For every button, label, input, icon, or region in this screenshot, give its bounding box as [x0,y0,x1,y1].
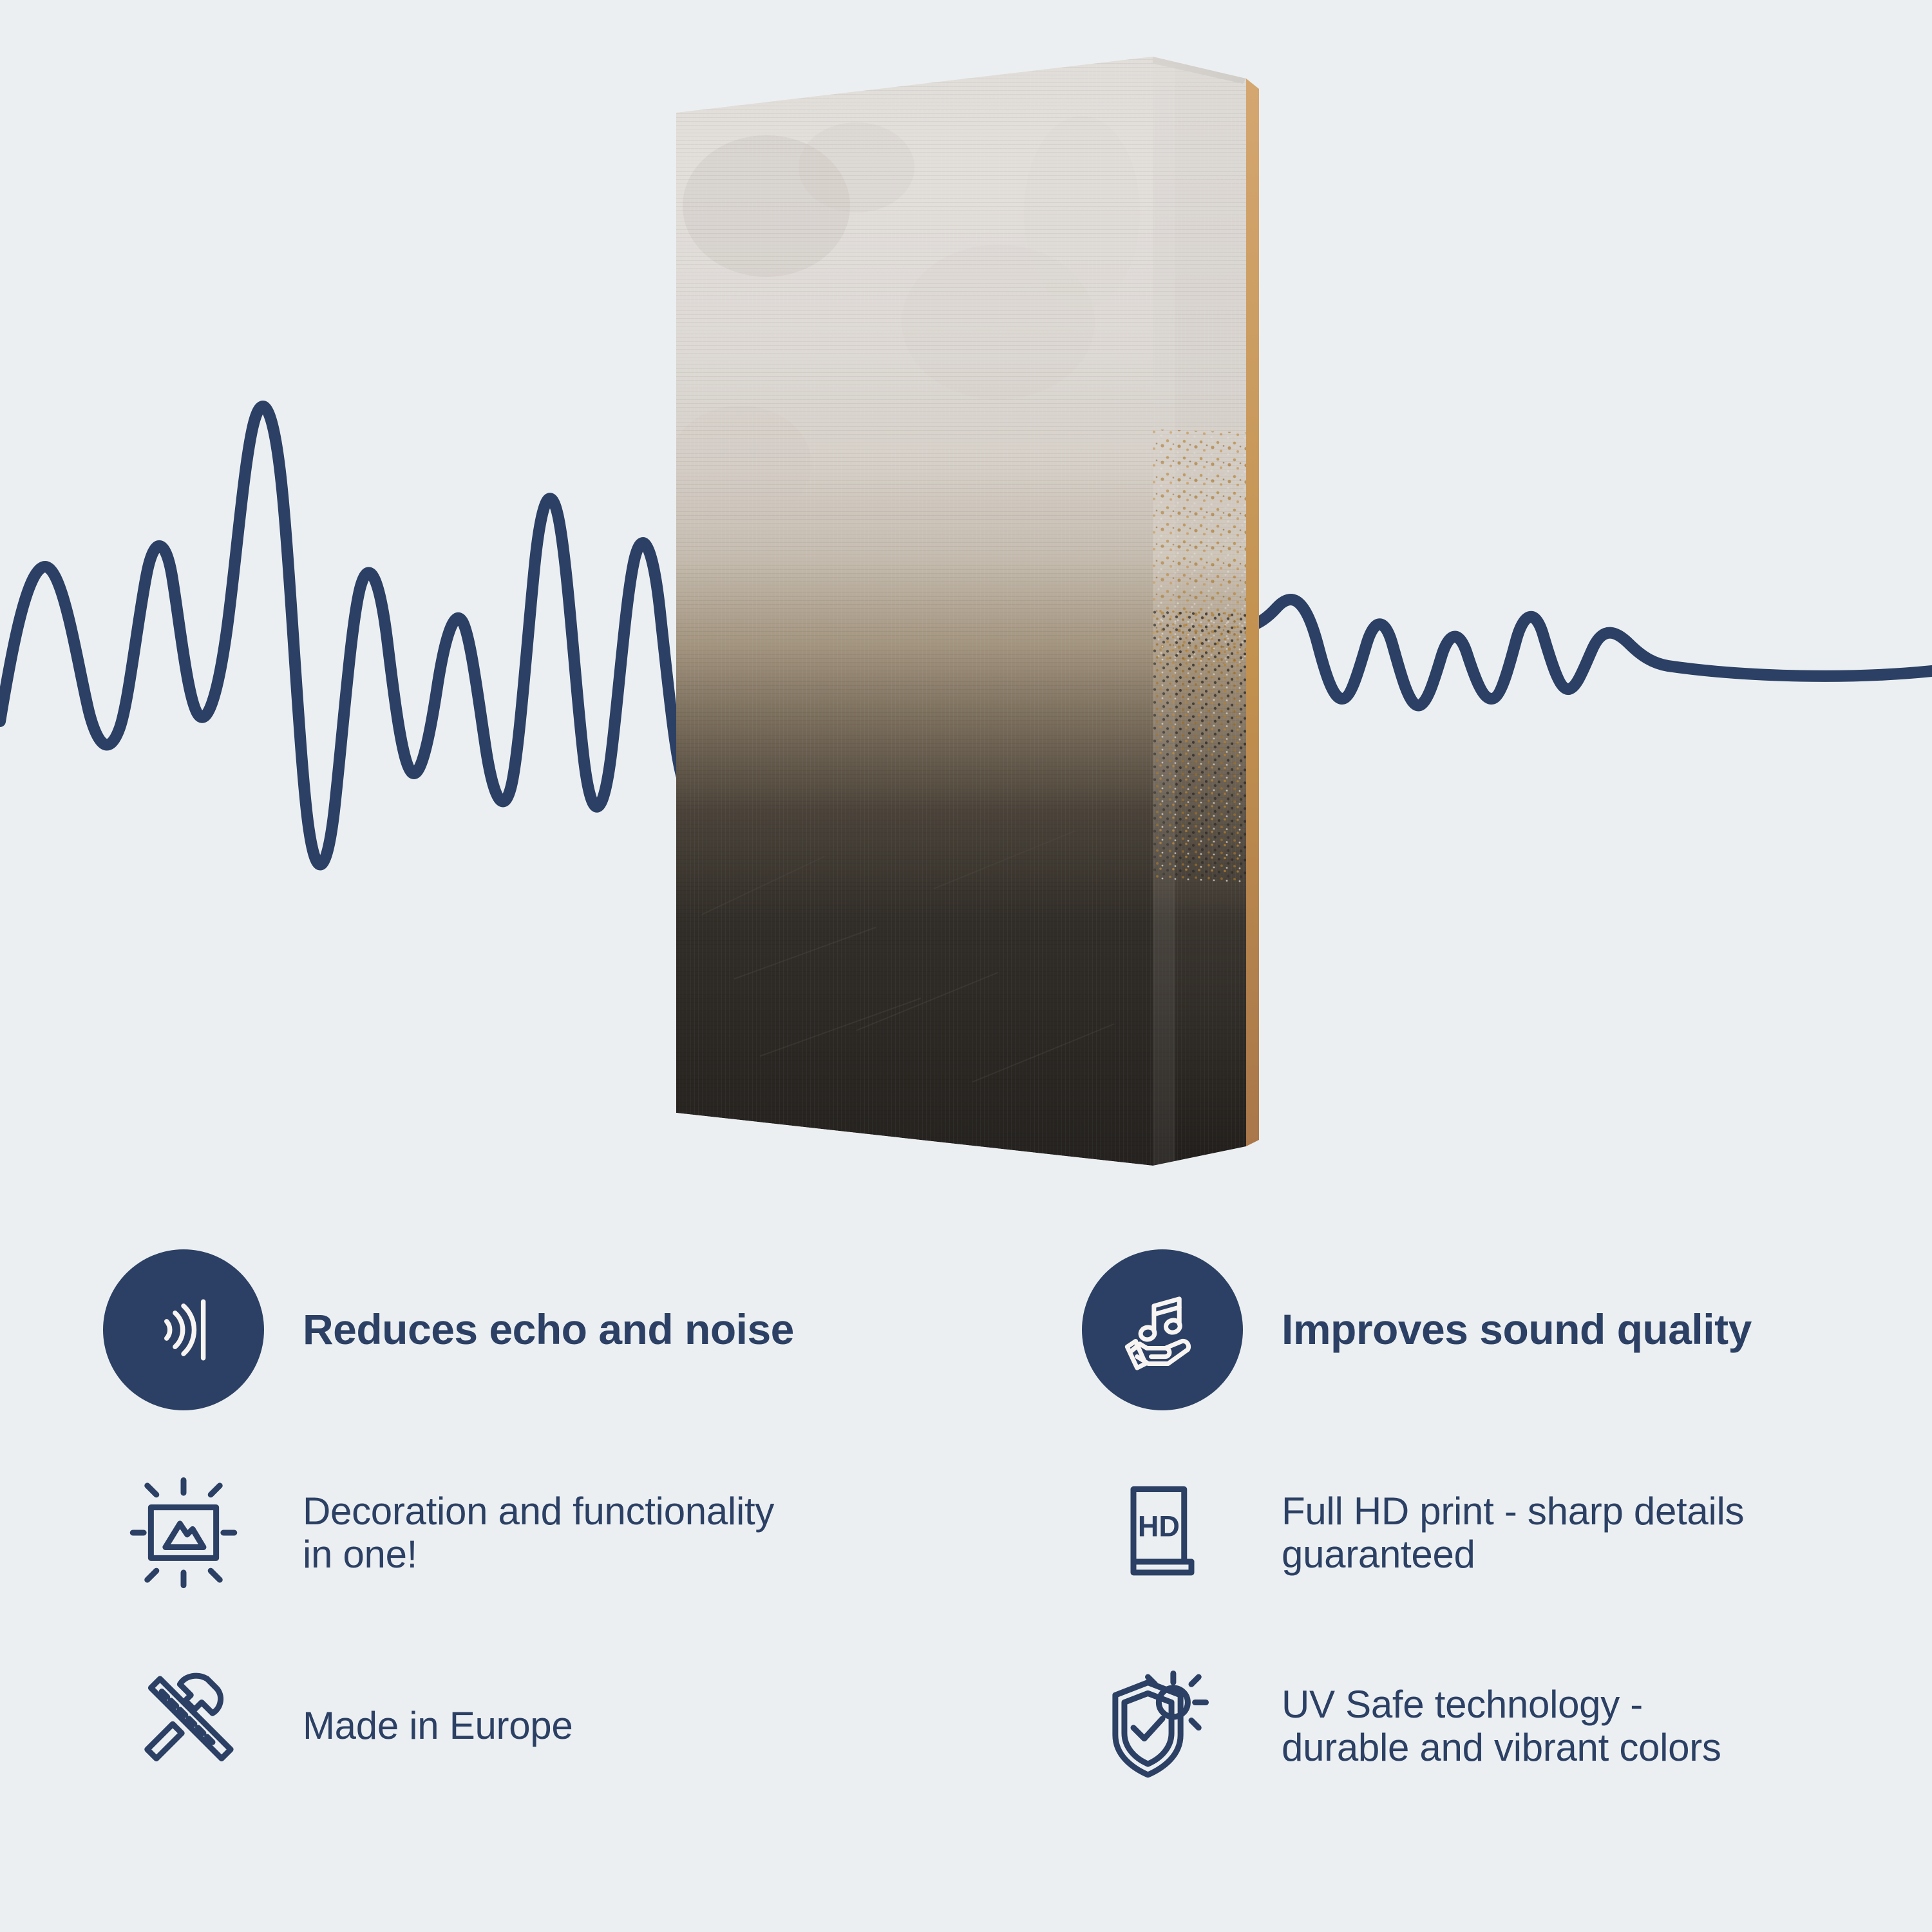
shield-sun-icon [1082,1658,1243,1794]
infographic-stage: Reduces echo and noise Improves sound qu… [0,0,1932,1932]
canvas-artwork-svg [663,52,1294,1230]
sound-waves-icon [103,1249,264,1410]
feature-label: Made in Europe [303,1704,573,1747]
shining-picture-frame-icon [103,1465,264,1600]
feature-uv-safe[interactable]: UV Safe technology - durable and vibrant… [1075,1629,1874,1823]
stretcher-bar-sliver [1246,79,1259,1146]
product-canvas-image [663,52,1294,1230]
feature-label: Reduces echo and noise [303,1306,794,1354]
feature-decoration-functionality[interactable]: Decoration and functionality in one! [97,1436,1075,1629]
feature-list: Reduces echo and noise Improves sound qu… [97,1224,1874,1823]
ruler-hammer-icon [103,1658,264,1794]
feature-label: Improves sound quality [1282,1306,1752,1354]
canvas-side-edge [1150,52,1253,1185]
feature-made-in-europe[interactable]: Made in Europe [97,1629,1075,1823]
feature-label: Decoration and functionality in one! [303,1490,774,1576]
feature-reduces-echo[interactable]: Reduces echo and noise [97,1224,1075,1436]
hand-music-note-icon [1082,1249,1243,1410]
feature-improves-sound[interactable]: Improves sound quality [1075,1224,1874,1436]
feature-label: Full HD print - sharp details guaranteed [1282,1490,1744,1576]
feature-label: UV Safe technology - durable and vibrant… [1282,1683,1721,1769]
feature-full-hd-print[interactable]: HD Full HD print - sharp details guarant… [1075,1436,1874,1629]
hd-icon-text: HD [1138,1510,1180,1543]
hd-print-icon: HD [1082,1465,1243,1600]
